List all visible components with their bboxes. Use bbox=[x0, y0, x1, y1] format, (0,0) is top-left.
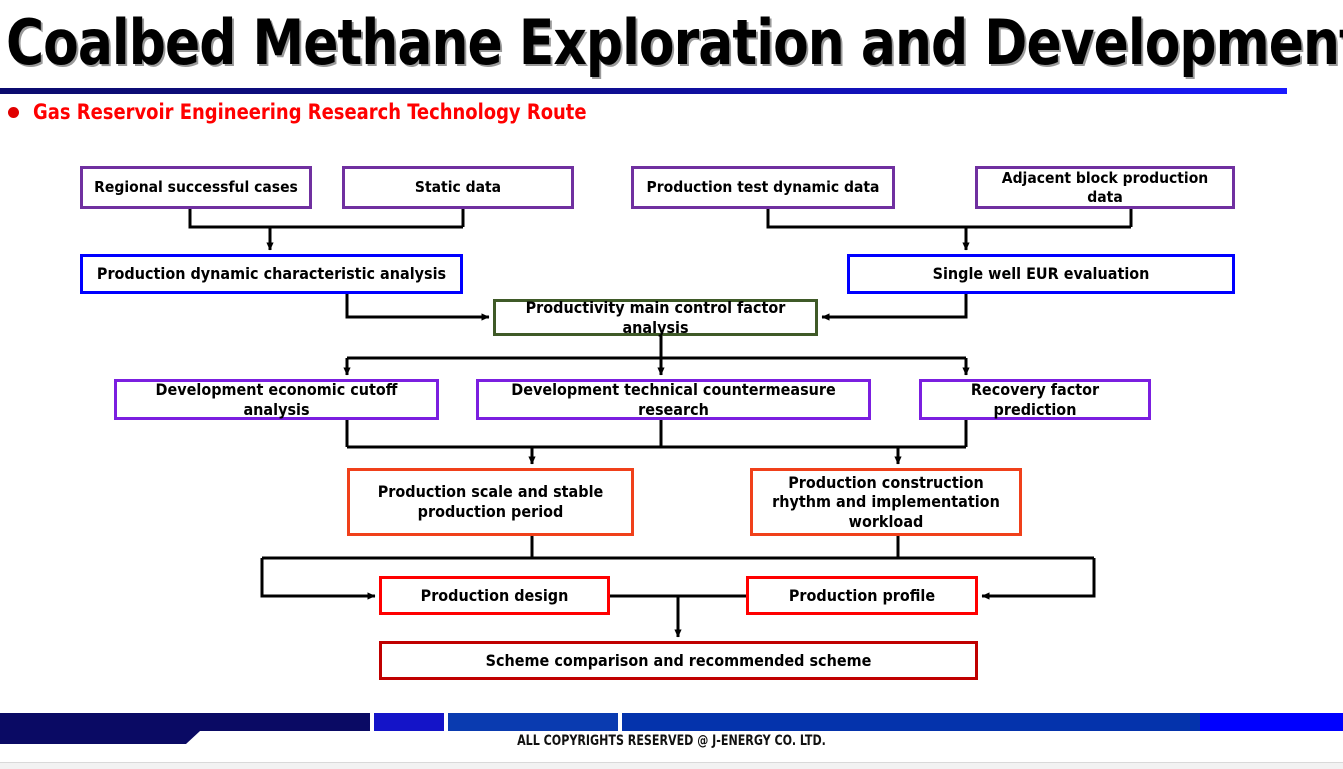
node-productivity-main-control-factor-analysis[interactable]: Productivity main control factor analysi… bbox=[493, 299, 818, 336]
node-label: Adjacent block production data bbox=[984, 169, 1226, 207]
footer-segment bbox=[448, 713, 618, 731]
footer-segment bbox=[0, 713, 370, 731]
node-production-test-dynamic-data[interactable]: Production test dynamic data bbox=[631, 166, 895, 209]
node-label: Production construction rhythm and imple… bbox=[759, 473, 1013, 532]
node-adjacent-block-production-data[interactable]: Adjacent block production data bbox=[975, 166, 1235, 209]
footer-accent-bar bbox=[0, 713, 1343, 731]
node-single-well-eur-evaluation[interactable]: Single well EUR evaluation bbox=[847, 254, 1235, 294]
node-label: Production dynamic characteristic analys… bbox=[97, 264, 446, 284]
node-label: Development economic cutoff analysis bbox=[123, 380, 430, 419]
footer-segment bbox=[1200, 713, 1343, 731]
technology-route-flowchart: Regional successful cases Static data Pr… bbox=[0, 0, 1343, 768]
node-label: Regional successful cases bbox=[94, 178, 298, 197]
node-label: Scheme comparison and recommended scheme bbox=[486, 651, 872, 671]
node-development-economic-cutoff-analysis[interactable]: Development economic cutoff analysis bbox=[114, 379, 439, 420]
node-static-data[interactable]: Static data bbox=[342, 166, 574, 209]
copyright-label: ALL COPYRIGHTS RESERVED @ J-ENERGY CO. L… bbox=[81, 733, 1263, 749]
node-production-scale-and-stable-production-period[interactable]: Production scale and stable production p… bbox=[347, 468, 634, 536]
node-production-profile[interactable]: Production profile bbox=[746, 576, 978, 615]
node-label: Production test dynamic data bbox=[647, 178, 880, 197]
node-scheme-comparison-and-recommended-scheme[interactable]: Scheme comparison and recommended scheme bbox=[379, 641, 978, 680]
node-production-dynamic-characteristic-analysis[interactable]: Production dynamic characteristic analys… bbox=[80, 254, 463, 294]
node-label: Production design bbox=[421, 586, 569, 606]
node-production-construction-rhythm-and-implementation-workload[interactable]: Production construction rhythm and imple… bbox=[750, 468, 1022, 536]
node-production-design[interactable]: Production design bbox=[379, 576, 610, 615]
node-recovery-factor-prediction[interactable]: Recovery factor prediction bbox=[919, 379, 1151, 420]
node-label: Production scale and stable production p… bbox=[356, 482, 625, 521]
node-label: Single well EUR evaluation bbox=[933, 264, 1150, 284]
node-label: Production profile bbox=[789, 586, 935, 606]
node-regional-successful-cases[interactable]: Regional successful cases bbox=[80, 166, 312, 209]
node-label: Development technical countermeasure res… bbox=[485, 380, 862, 419]
footer-segment bbox=[374, 713, 444, 731]
node-label: Static data bbox=[415, 178, 501, 197]
node-development-technical-countermeasure-research[interactable]: Development technical countermeasure res… bbox=[476, 379, 871, 420]
node-label: Recovery factor prediction bbox=[928, 380, 1142, 419]
footer-segment bbox=[622, 713, 1200, 731]
node-label: Productivity main control factor analysi… bbox=[502, 298, 809, 337]
